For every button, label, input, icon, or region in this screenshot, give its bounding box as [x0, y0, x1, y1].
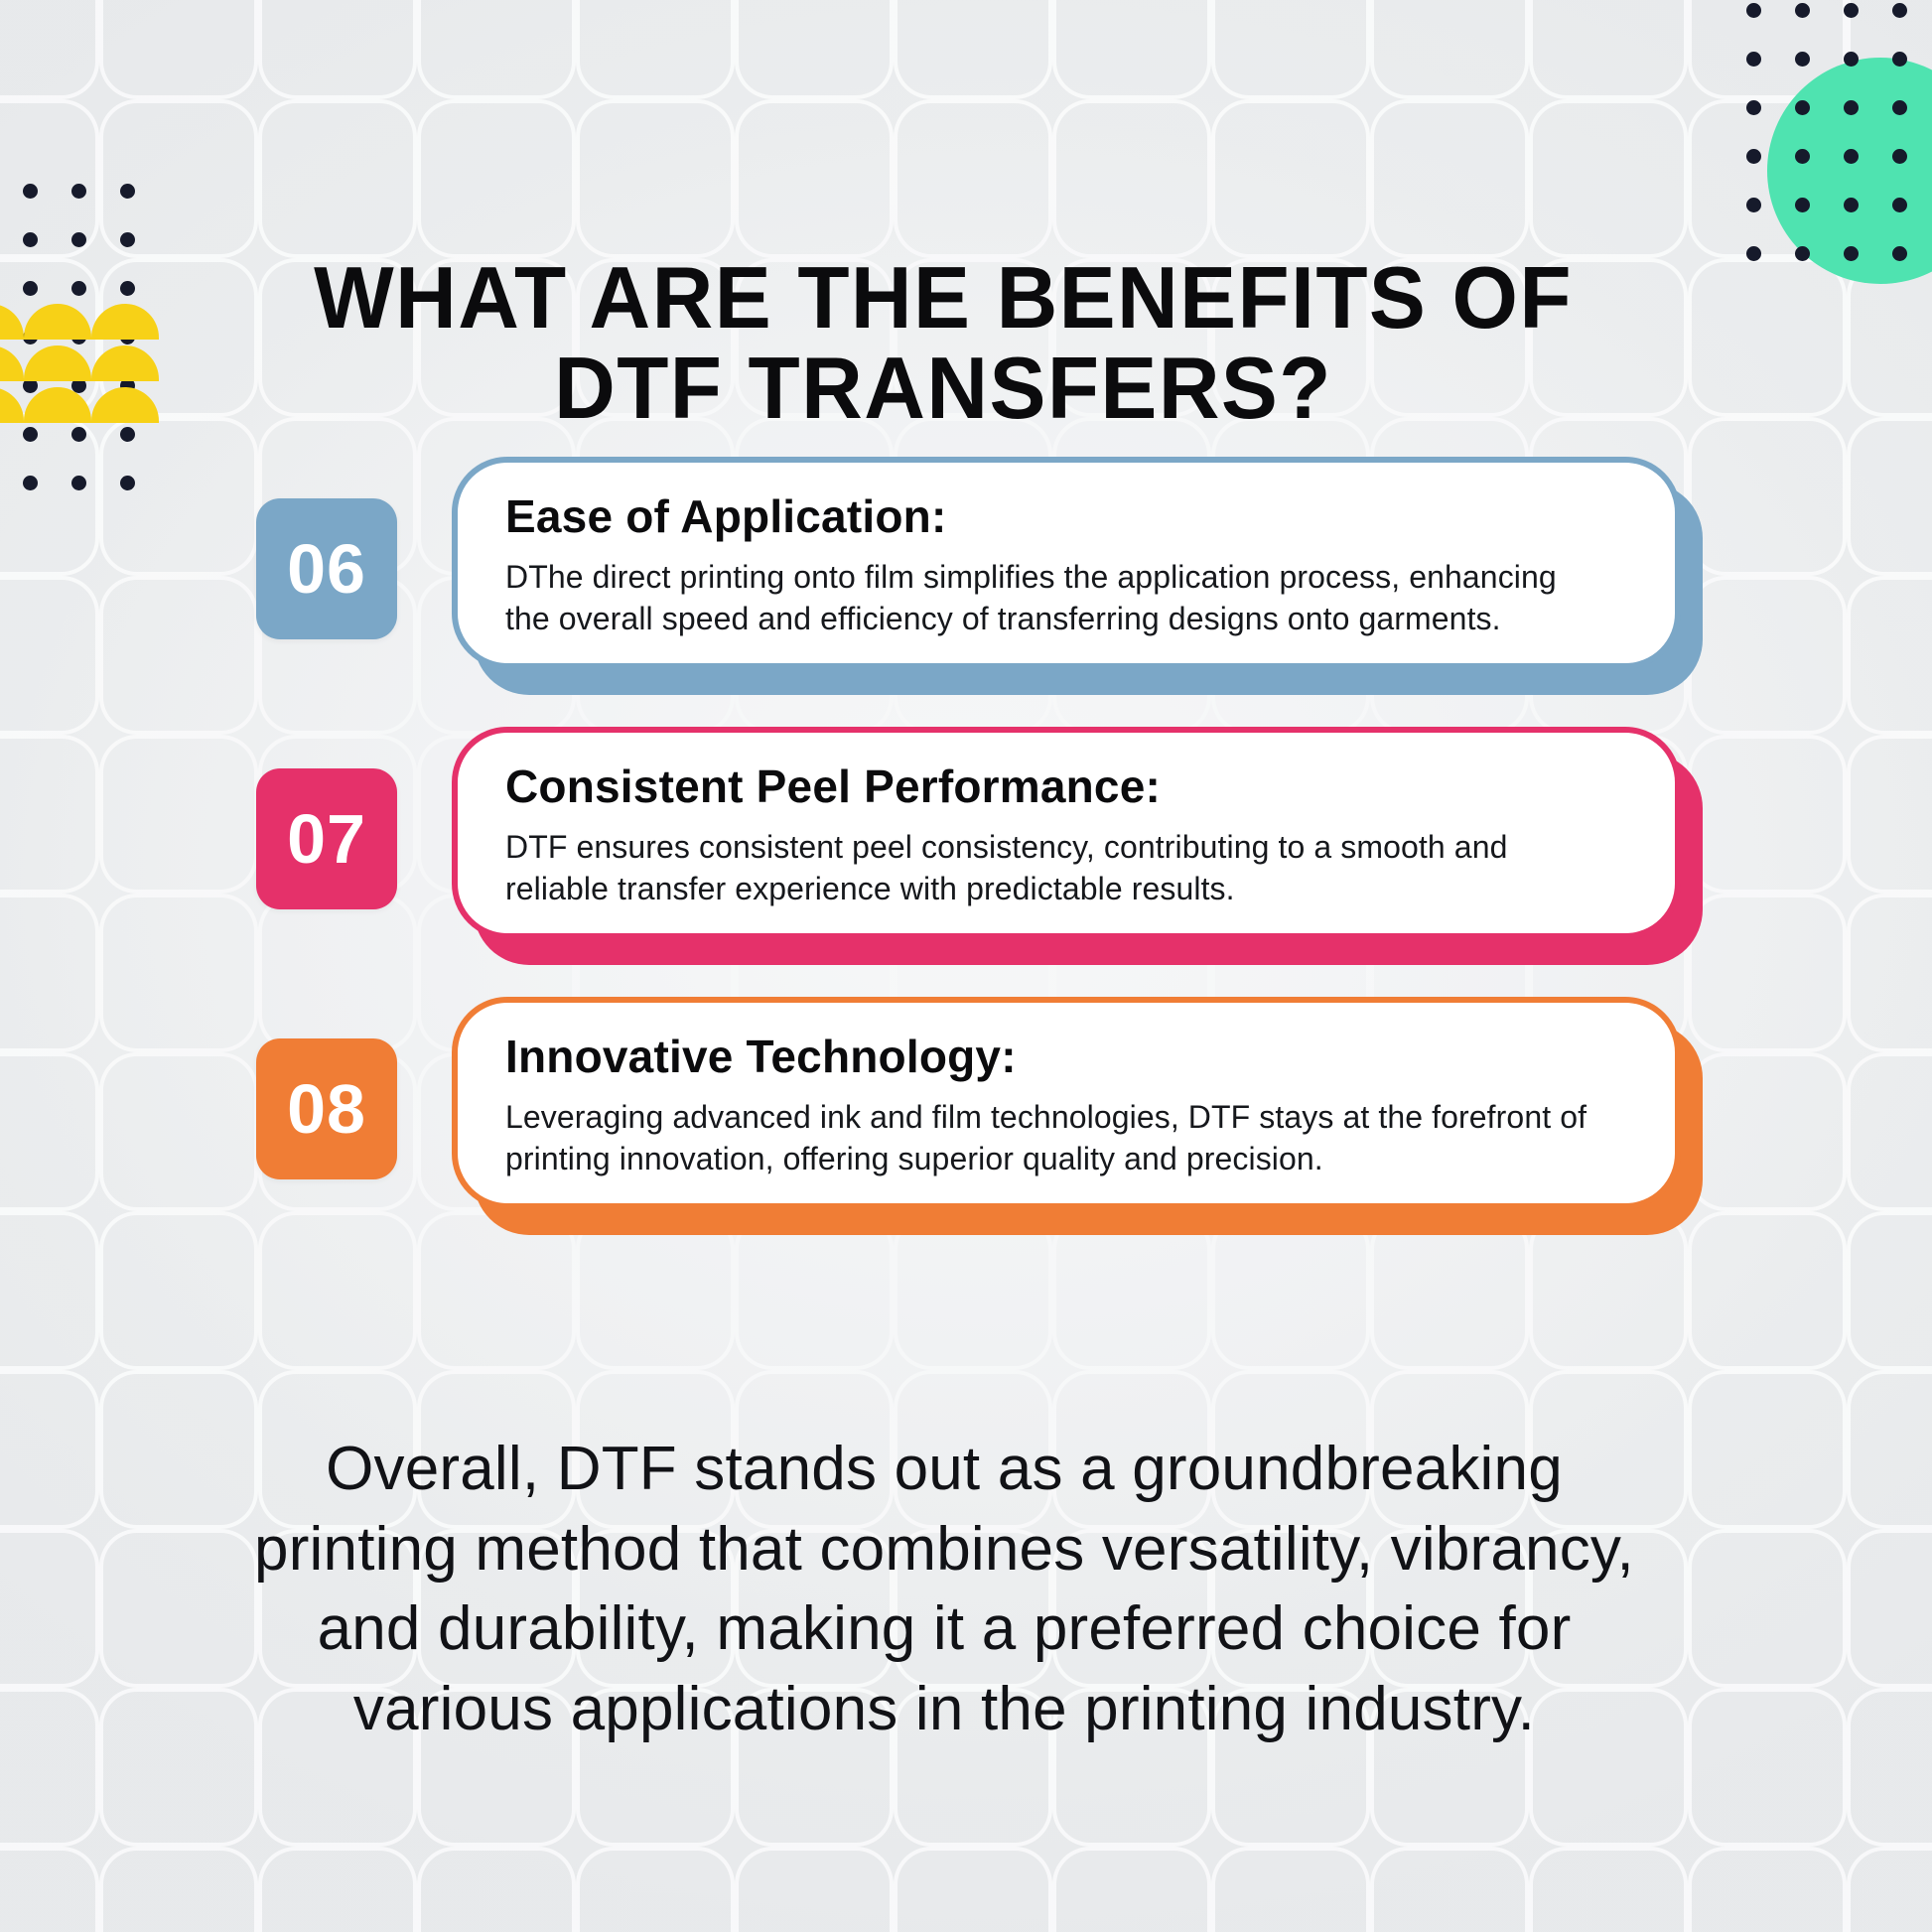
card-body-text: Leveraging advanced ink and film technol… — [505, 1096, 1602, 1179]
benefit-card-06: 06Ease of Application:DThe direct printi… — [0, 457, 1932, 723]
card-number-badge: 07 — [256, 768, 397, 909]
card-body-text: DTF ensures consistent peel consistency,… — [505, 826, 1602, 909]
content-layer: WHAT ARE THE BENEFITS OF DTF TRANSFERS? … — [0, 0, 1932, 1932]
benefit-card-08: 08Innovative Technology:Leveraging advan… — [0, 997, 1932, 1263]
card-title: Ease of Application: — [505, 492, 1629, 542]
card-number-badge: 08 — [256, 1038, 397, 1179]
card-surface: Consistent Peel Performance:DTF ensures … — [452, 727, 1681, 939]
card-title: Consistent Peel Performance: — [505, 762, 1629, 812]
card-body-text: DThe direct printing onto film simplifie… — [505, 556, 1602, 639]
card-title: Innovative Technology: — [505, 1033, 1629, 1082]
card-surface: Innovative Technology:Leveraging advance… — [452, 997, 1681, 1209]
summary-paragraph: Overall, DTF stands out as a groundbreak… — [234, 1430, 1654, 1749]
page-title: WHAT ARE THE BENEFITS OF DTF TRANSFERS? — [259, 253, 1626, 433]
card-number-badge: 06 — [256, 498, 397, 639]
card-shell: Consistent Peel Performance:DTF ensures … — [452, 727, 1681, 939]
benefit-card-07: 07Consistent Peel Performance:DTF ensure… — [0, 727, 1932, 993]
infographic-canvas: WHAT ARE THE BENEFITS OF DTF TRANSFERS? … — [0, 0, 1932, 1932]
benefit-card-list: 06Ease of Application:DThe direct printi… — [0, 457, 1932, 1267]
card-shell: Ease of Application:DThe direct printing… — [452, 457, 1681, 669]
card-shell: Innovative Technology:Leveraging advance… — [452, 997, 1681, 1209]
card-surface: Ease of Application:DThe direct printing… — [452, 457, 1681, 669]
